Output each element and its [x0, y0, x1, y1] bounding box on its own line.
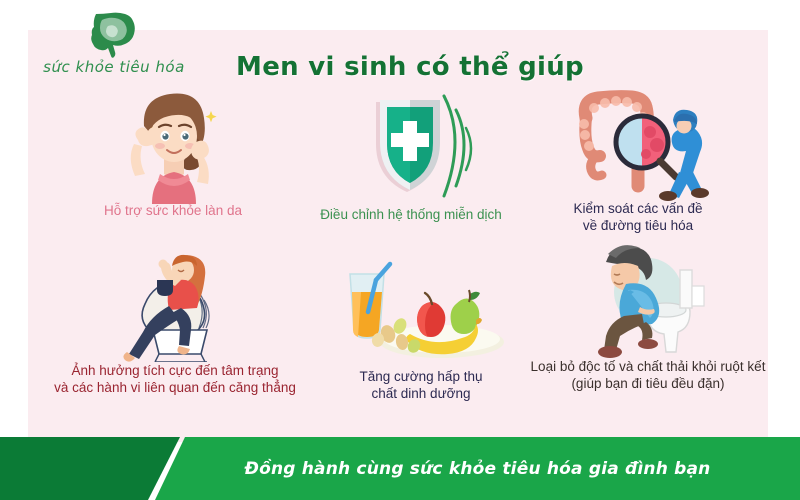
page-title: Men vi sinh có thể giúp: [180, 52, 640, 82]
colon-intestine-icon: [86, 8, 142, 60]
benefit-caption: Loại bỏ độc tố và chất thải khỏi ruột kế…: [498, 358, 798, 392]
woman-relaxing-chair-icon: [30, 244, 320, 362]
shield-cross-icon: [286, 88, 536, 206]
benefit-caption: Ảnh hưởng tích cực đến tâm trạng và các …: [30, 362, 320, 396]
benefit-item-nutrient-absorption: Tăng cường hấp thụ chất dinh dưỡng: [316, 250, 526, 402]
benefit-item-toxin-removal: Loại bỏ độc tố và chất thải khỏi ruột kế…: [498, 240, 798, 392]
brand-logo: sức khỏe tiêu hóa: [34, 8, 194, 86]
benefit-caption: Kiểm soát các vấn đề về đường tiêu hóa: [523, 200, 753, 234]
footer-accent-shape: [0, 437, 180, 500]
fruit-plate-juice-icon: [316, 250, 526, 368]
benefit-caption: Hỗ trợ sức khỏe làn da: [48, 202, 298, 219]
benefit-item-mood-stress: Ảnh hưởng tích cực đến tâm trạng và các …: [30, 244, 320, 396]
woman-touching-face-icon: [48, 84, 298, 202]
footer-banner: Đồng hành cùng sức khỏe tiêu hóa gia đìn…: [0, 437, 800, 500]
footer-tagline: Đồng hành cùng sức khỏe tiêu hóa gia đìn…: [155, 437, 800, 500]
colon-magnifier-doctor-icon: [523, 82, 753, 200]
benefit-item-skin-health: Hỗ trợ sức khỏe làn da: [48, 84, 298, 219]
man-on-toilet-icon: [498, 240, 798, 358]
brand-logo-text: sức khỏe tiêu hóa: [34, 58, 194, 76]
benefit-caption: Tăng cường hấp thụ chất dinh dưỡng: [316, 368, 526, 402]
benefit-item-immune-system: Điều chỉnh hệ thống miễn dịch: [286, 88, 536, 223]
benefit-caption: Điều chỉnh hệ thống miễn dịch: [286, 206, 536, 223]
benefit-item-digestive-control: Kiểm soát các vấn đề về đường tiêu hóa: [523, 82, 753, 234]
infographic-canvas: sức khỏe tiêu hóa Men vi sinh có thể giú…: [0, 0, 800, 500]
benefit-grid: Hỗ trợ sức khỏe làn da: [28, 82, 768, 432]
